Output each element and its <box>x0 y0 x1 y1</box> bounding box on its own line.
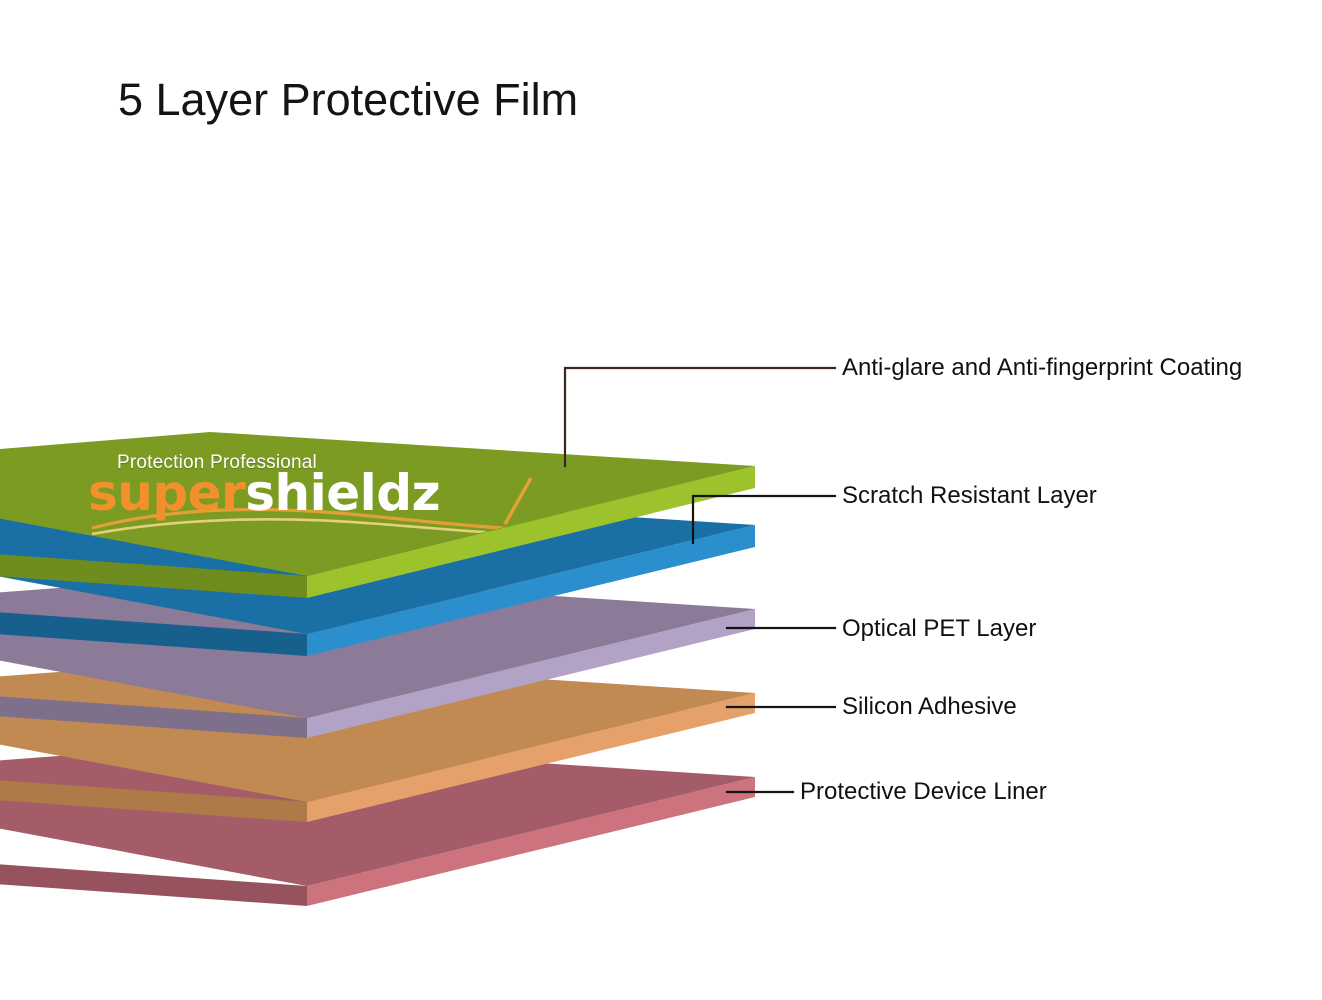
callout-label-protective-device-liner: Protective Device Liner <box>800 780 1047 804</box>
layer-stack-diagram <box>0 0 1322 1000</box>
leader-line-anti-glare-coating <box>565 368 835 466</box>
callout-label-scratch-resistant-layer: Scratch Resistant Layer <box>842 484 1097 508</box>
diagram-canvas: 5 Layer Protective Film <box>0 0 1322 1000</box>
callout-label-optical-pet-layer: Optical PET Layer <box>842 617 1036 641</box>
callout-label-anti-glare-coating: Anti-glare and Anti-fingerprint Coating <box>842 356 1242 380</box>
callout-label-silicon-adhesive: Silicon Adhesive <box>842 695 1017 719</box>
